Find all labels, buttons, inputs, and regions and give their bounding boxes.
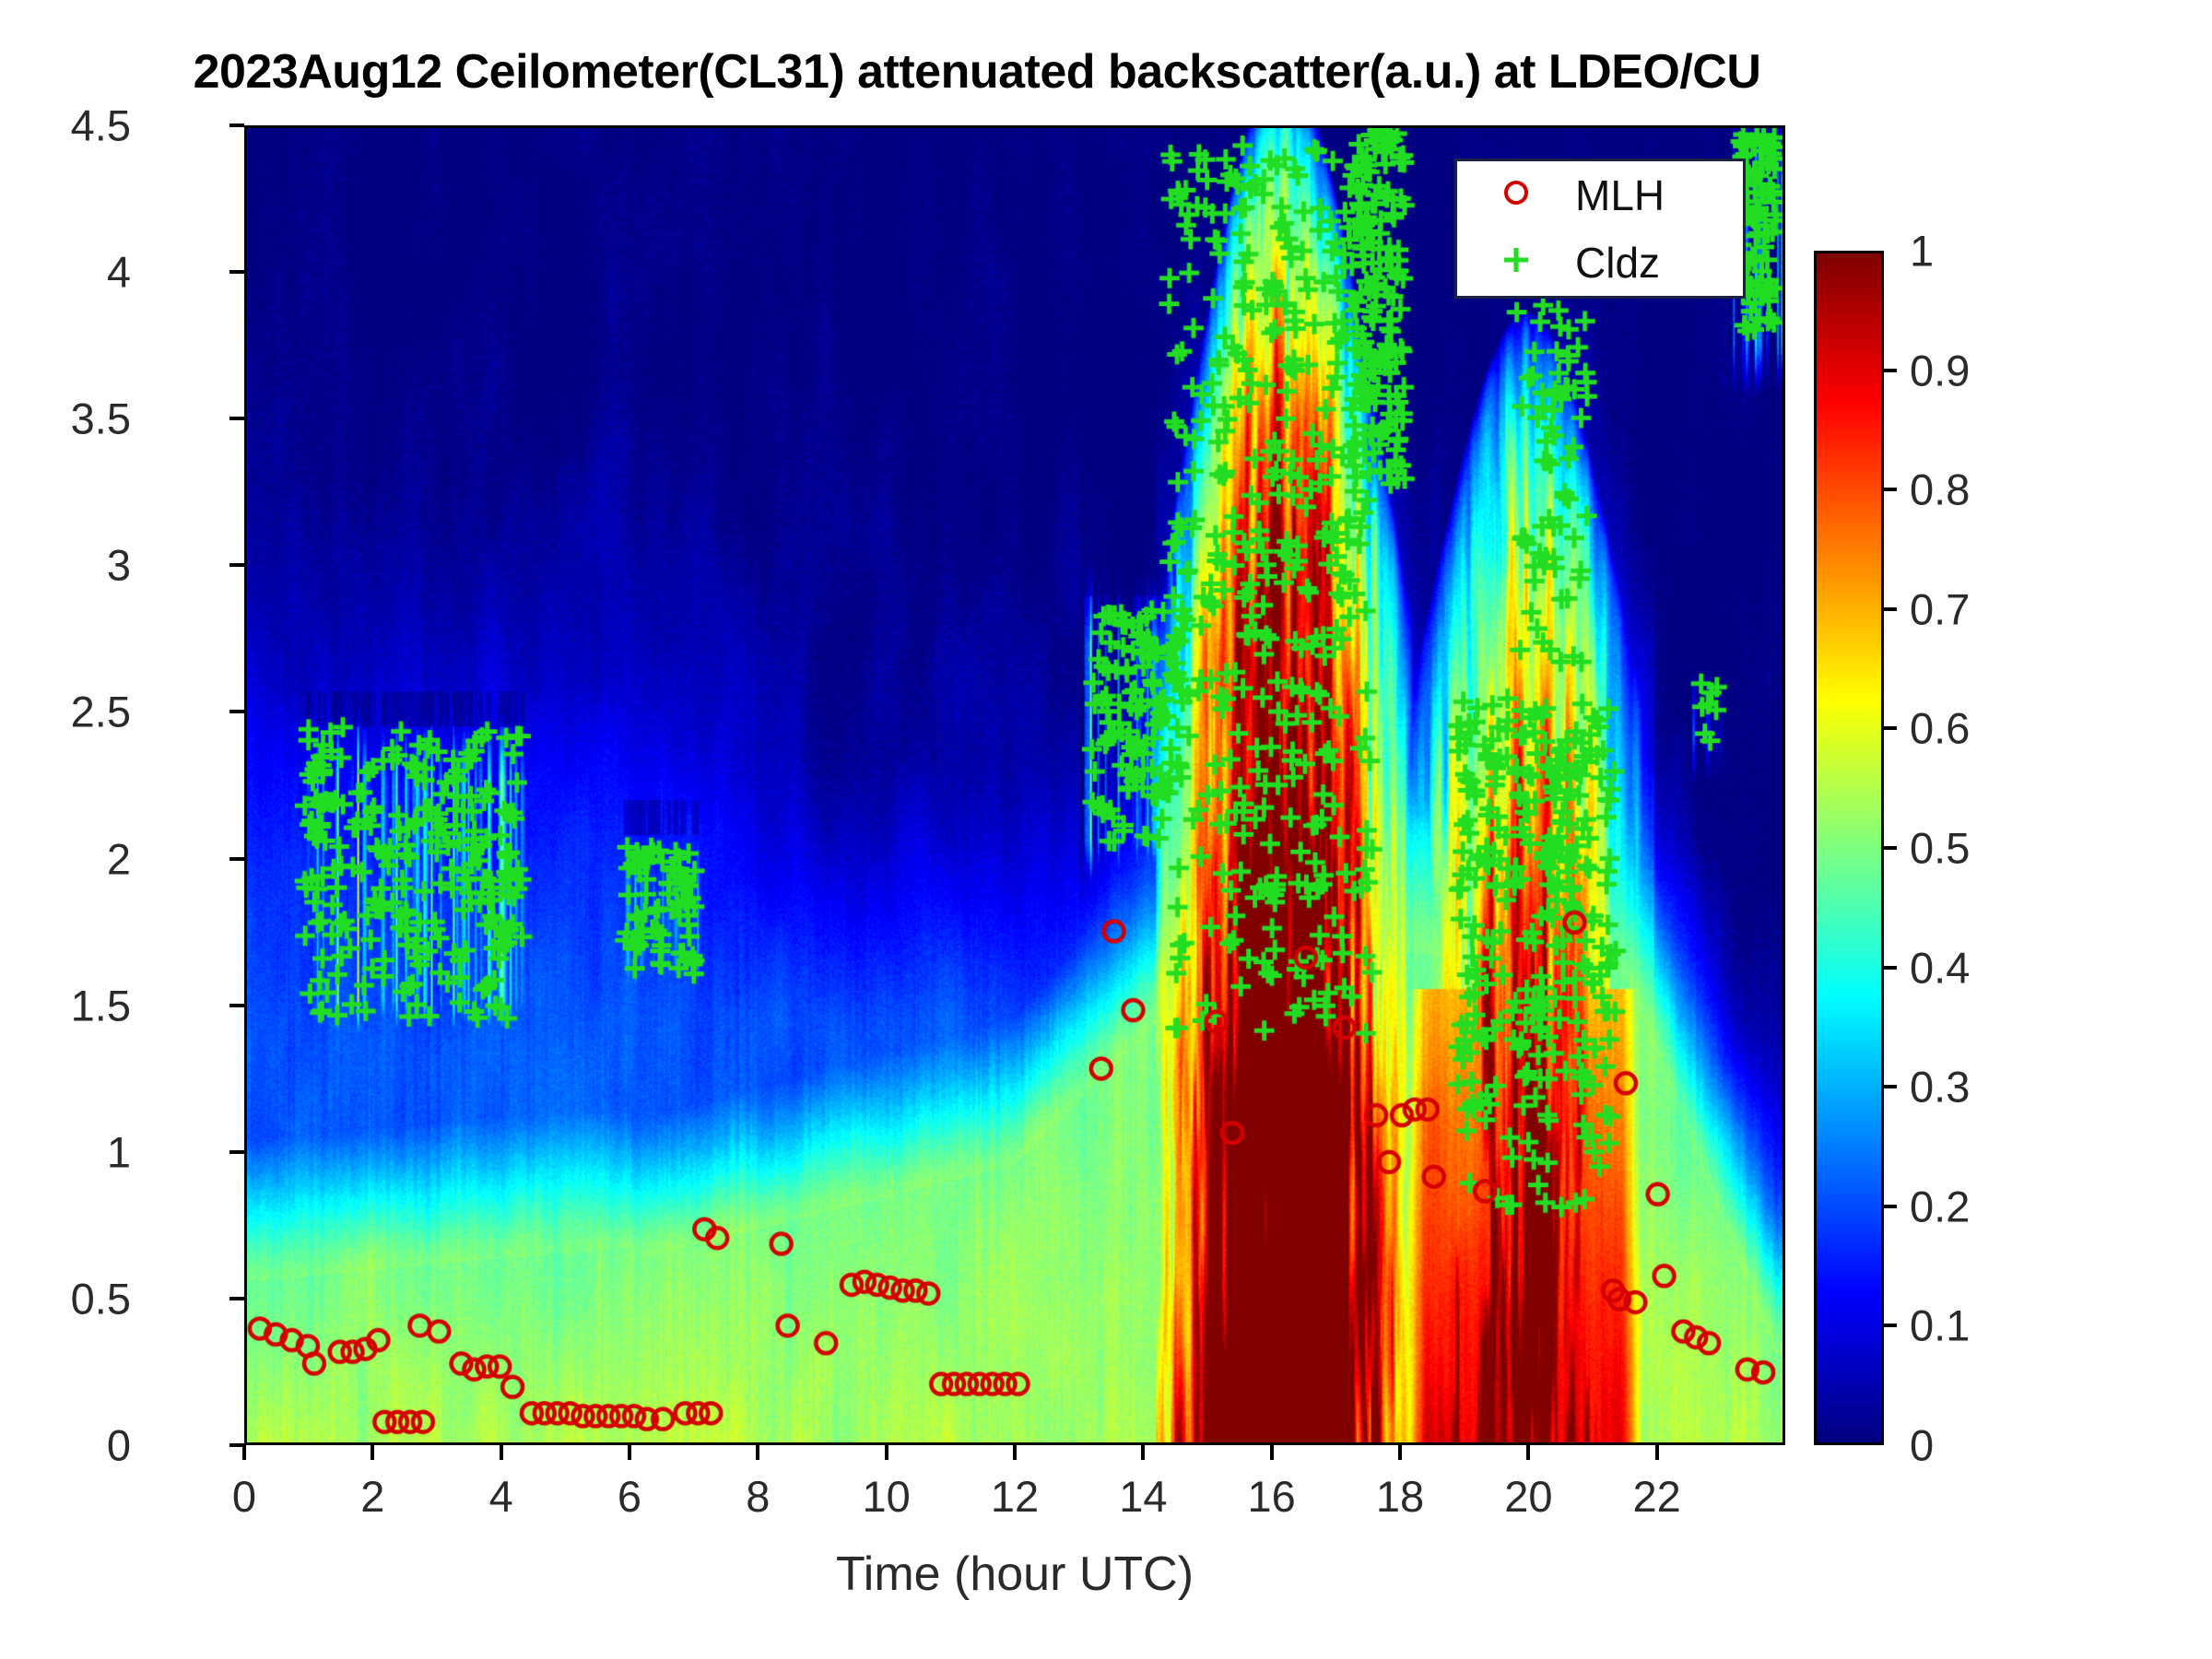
colorbar-tick [1884, 1085, 1897, 1088]
colorbar-tick-label: 0.2 [1910, 1181, 1970, 1231]
x-tick [885, 1445, 888, 1460]
colorbar-tick-label: 0.5 [1910, 823, 1970, 874]
y-tick-label: 4.5 [71, 100, 131, 151]
y-tick-label: 2 [107, 833, 131, 884]
colorbar-tick [1884, 1324, 1897, 1327]
colorbar-tick [1884, 488, 1897, 491]
x-tick [1270, 1445, 1274, 1460]
colorbar-tick [1884, 966, 1897, 970]
colorbar-tick-label: 0.9 [1910, 345, 1970, 395]
x-tick [1526, 1445, 1530, 1460]
colorbar-tick-label: 0.7 [1910, 583, 1970, 634]
x-tick-label: 2 [360, 1471, 384, 1522]
x-tick [1141, 1445, 1145, 1460]
colorbar-tick-label: 1 [1910, 226, 1934, 276]
x-tick [500, 1445, 503, 1460]
colorbar-tick [1884, 607, 1897, 611]
x-tick-label: 10 [863, 1471, 911, 1522]
x-tick-label: 4 [489, 1471, 513, 1522]
x-tick-label: 22 [1633, 1471, 1681, 1522]
colorbar-tick-label: 0.8 [1910, 465, 1970, 515]
x-tick [628, 1445, 631, 1460]
x-tick-label: 16 [1248, 1471, 1296, 1522]
y-tick-label: 0 [107, 1420, 131, 1471]
x-axis-title: Time (hour UTC) [244, 1547, 1785, 1602]
colorbar-tick [1884, 369, 1897, 372]
y-tick-label: 3 [107, 540, 131, 591]
x-tick-label: 20 [1504, 1471, 1552, 1522]
x-tick-label: 6 [618, 1471, 641, 1522]
x-tick-label: 14 [1119, 1471, 1167, 1522]
y-tick-label: 0.5 [71, 1273, 131, 1324]
y-tick-label: 3.5 [71, 394, 131, 444]
x-tick [1655, 1445, 1659, 1460]
x-tick [242, 1445, 246, 1460]
colorbar-tick [1884, 846, 1897, 850]
colorbar-tick [1884, 1205, 1897, 1208]
colorbar-tick-label: 0.6 [1910, 703, 1970, 754]
colorbar-tick-label: 0.3 [1910, 1062, 1970, 1112]
colorbar-gradient [1814, 251, 1884, 1445]
x-tick-label: 8 [746, 1471, 770, 1522]
y-tick-label: 4 [107, 247, 131, 298]
x-tick [756, 1445, 759, 1460]
y-tick-label: 2.5 [71, 687, 131, 737]
x-tick-label: 0 [232, 1471, 256, 1522]
y-tick-label: 1.5 [71, 980, 131, 1030]
colorbar-tick [1884, 726, 1897, 730]
colorbar[interactable]: 00.10.20.30.40.50.60.70.80.91 [1814, 251, 1884, 1445]
colorbar-tick-label: 0.4 [1910, 942, 1970, 993]
x-tick [371, 1445, 374, 1460]
x-tick-label: 12 [991, 1471, 1039, 1522]
colorbar-tick-label: 0 [1910, 1420, 1934, 1471]
y-tick-label: 1 [107, 1126, 131, 1177]
page-title: 2023Aug12 Ceilometer(CL31) attenuated ba… [0, 44, 1954, 100]
colorbar-tick-label: 0.1 [1910, 1300, 1970, 1351]
x-tick-label: 18 [1376, 1471, 1424, 1522]
x-tick [1013, 1445, 1017, 1460]
x-tick [1398, 1445, 1402, 1460]
